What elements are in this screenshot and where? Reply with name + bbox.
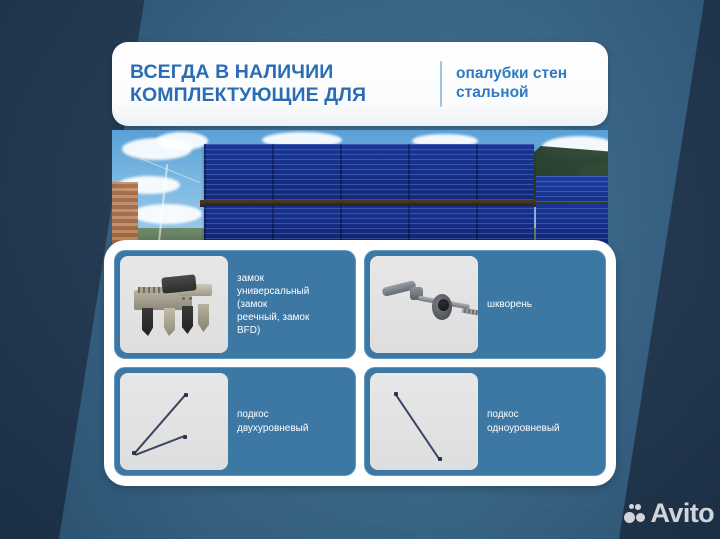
avito-watermark: Avito (624, 500, 715, 527)
product-label: замок универсальный (замок реечный, замо… (228, 272, 350, 338)
header-card: ВСЕГДА В НАЛИЧИИ КОМПЛЕКТУЮЩИЕ ДЛЯ опалу… (112, 42, 608, 126)
avito-logo-icon (624, 503, 646, 525)
formwork-panel-stack-right-upper (536, 176, 608, 202)
formwork-panel-stack-lower (204, 206, 534, 244)
brick-wall (112, 182, 138, 244)
panel-seams (204, 144, 534, 200)
one-level-brace-icon (370, 373, 478, 470)
panel-seams (204, 206, 534, 244)
header-divider (440, 61, 442, 107)
clamp-lock-icon (120, 256, 228, 353)
product-card-one-level-brace[interactable]: подкос одноуровневый (364, 367, 606, 476)
product-card-lock[interactable]: замок универсальный (замок реечный, замо… (114, 250, 356, 359)
product-label: подкос одноуровневый (478, 408, 600, 434)
formwork-panel-stack-upper (204, 144, 534, 200)
cloud (132, 204, 202, 224)
formwork-panel-stack-right-lower (536, 204, 608, 244)
page-subtitle: опалубки стен стальной (456, 65, 594, 102)
two-level-brace-icon (120, 373, 228, 470)
panel-ribs (536, 176, 608, 202)
page-title: ВСЕГДА В НАЛИЧИИ КОМПЛЕКТУЮЩИЕ ДЛЯ (130, 61, 436, 106)
avito-wordmark: Avito (651, 500, 715, 527)
cloud (156, 132, 208, 150)
product-card-kingpin[interactable]: шкворень (364, 250, 606, 359)
panel-ribs (536, 204, 608, 244)
kingpin-icon (370, 256, 478, 353)
formwork-photo (112, 130, 608, 244)
product-label: подкос двухуровневый (228, 408, 350, 434)
product-card-two-level-brace[interactable]: подкос двухуровневый (114, 367, 356, 476)
product-label: шкворень (478, 298, 600, 311)
product-list: замок универсальный (замок реечный, замо… (104, 240, 616, 486)
promo-banner: ВСЕГДА В НАЛИЧИИ КОМПЛЕКТУЮЩИЕ ДЛЯ опалу… (0, 0, 720, 539)
